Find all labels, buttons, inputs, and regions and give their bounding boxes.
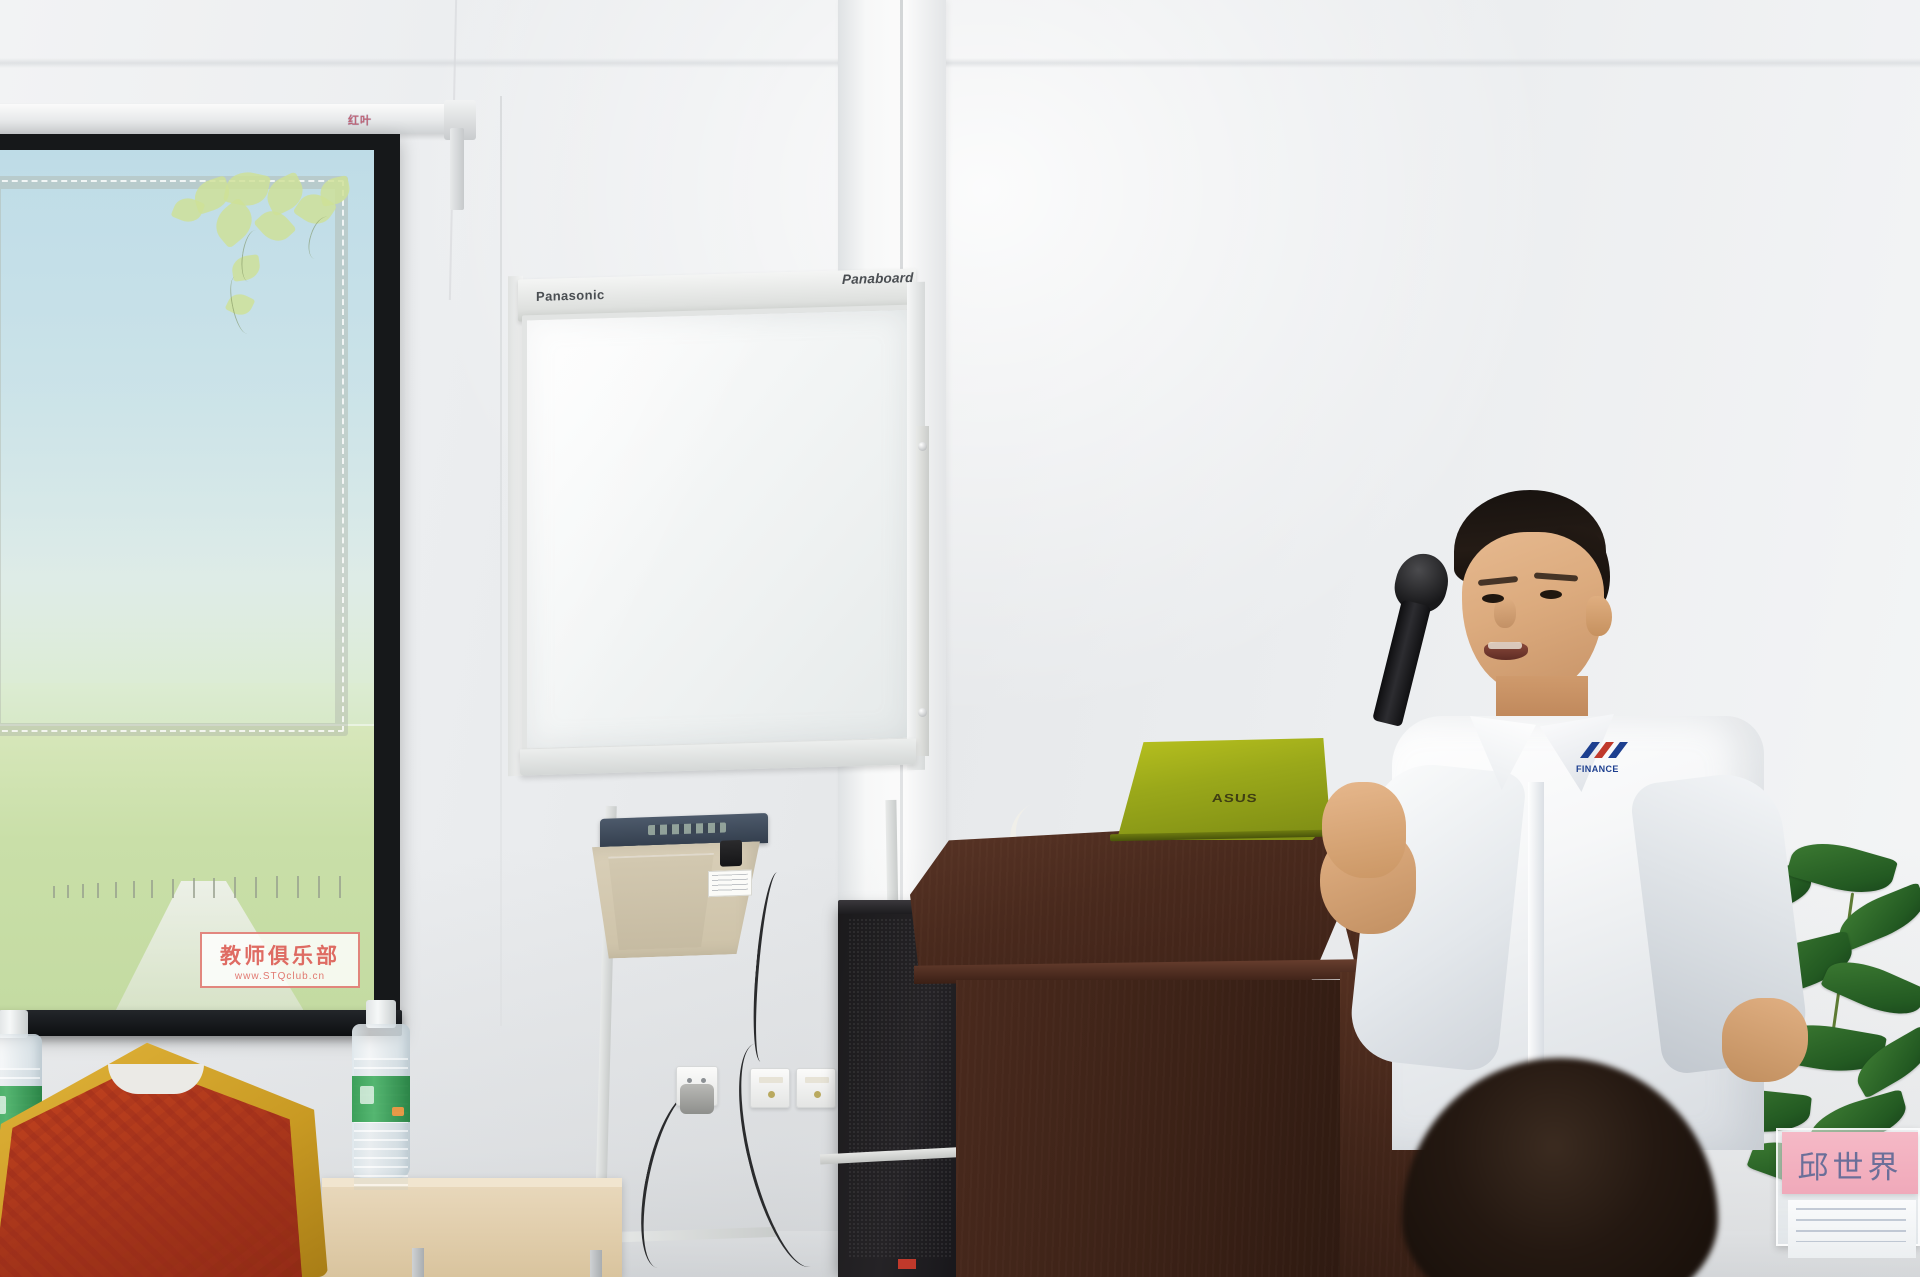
panaboard-screw-bottom bbox=[918, 708, 927, 717]
slide-banner-url: www.STQclub.cn bbox=[202, 971, 358, 982]
projection-screen-surface: 教师俱乐部 www.STQclub.cn bbox=[0, 150, 374, 1010]
printer-power-plug bbox=[720, 840, 742, 867]
panaboard-brand-panaboard: Panaboard bbox=[842, 270, 914, 287]
panaboard-left-post bbox=[508, 276, 523, 776]
slide-banner-title: 教师俱乐部 bbox=[202, 940, 358, 970]
panaboard-brand-panasonic: Panasonic bbox=[536, 287, 605, 304]
slide-banner: 教师俱乐部 www.STQclub.cn bbox=[200, 932, 360, 988]
presenter: FINANCE bbox=[1400, 490, 1820, 1150]
printer-spec-label bbox=[708, 870, 752, 898]
audience-table bbox=[322, 1178, 622, 1277]
water-bottle-right bbox=[352, 1000, 410, 1178]
wall-data-jack-1[interactable] bbox=[750, 1068, 790, 1108]
name-card-paper-note bbox=[1788, 1200, 1916, 1258]
asus-laptop[interactable]: ASUS bbox=[1108, 738, 1330, 840]
bottle-label-right bbox=[352, 1076, 410, 1122]
inserted-power-plug bbox=[680, 1084, 714, 1114]
presenter-teeth bbox=[1488, 642, 1522, 649]
chair-back-handle-cutout bbox=[108, 1064, 204, 1094]
asus-logo: ASUS bbox=[1212, 792, 1259, 805]
desk-name-card: 邱世界 bbox=[1782, 1132, 1918, 1194]
panaboard-screw-top bbox=[918, 442, 927, 451]
panaboard-printer-unit bbox=[592, 813, 772, 963]
table-leg-1 bbox=[412, 1248, 424, 1277]
panaboard-writing-surface[interactable] bbox=[522, 305, 914, 754]
conference-room-photo: 红叶 bbox=[0, 0, 1920, 1277]
slide-fence bbox=[53, 876, 351, 898]
laptop-lid bbox=[1108, 738, 1330, 840]
lectern-body-left bbox=[956, 980, 1342, 1277]
presenter-right-hand bbox=[1722, 998, 1808, 1082]
shirt-chest-logo: FINANCE bbox=[1576, 740, 1646, 778]
ceiling-line bbox=[0, 58, 1920, 68]
roller-logo: 红叶 bbox=[348, 112, 456, 126]
name-card-text: 邱世界 bbox=[1782, 1142, 1918, 1187]
projection-screen-weight-bar bbox=[0, 1010, 402, 1036]
presenter-eye-right bbox=[1540, 590, 1562, 599]
company-logo-icon bbox=[1576, 740, 1646, 764]
slide-dotted-frame bbox=[0, 180, 344, 732]
printer-control-panel[interactable] bbox=[648, 822, 726, 835]
panaboard-glare bbox=[527, 310, 909, 749]
shirt-logo-text: FINANCE bbox=[1576, 764, 1619, 774]
roller-bracket-arm bbox=[450, 128, 464, 210]
presenter-ear bbox=[1586, 596, 1612, 636]
panaboard-mount-bracket bbox=[916, 426, 929, 756]
banquet-chair[interactable] bbox=[0, 1038, 328, 1277]
printer-label-lines bbox=[712, 874, 748, 893]
printer-paper-tray bbox=[606, 853, 714, 951]
paper-note-lines bbox=[1796, 1208, 1906, 1242]
table-leg-2 bbox=[590, 1250, 602, 1277]
presenter-nose bbox=[1494, 598, 1516, 628]
wall-data-jack-2[interactable] bbox=[796, 1068, 836, 1108]
presenter-hand-holding-mic bbox=[1322, 782, 1406, 878]
panasonic-panaboard: Panasonic Panaboard bbox=[512, 256, 932, 816]
presenter-face bbox=[1462, 532, 1604, 692]
